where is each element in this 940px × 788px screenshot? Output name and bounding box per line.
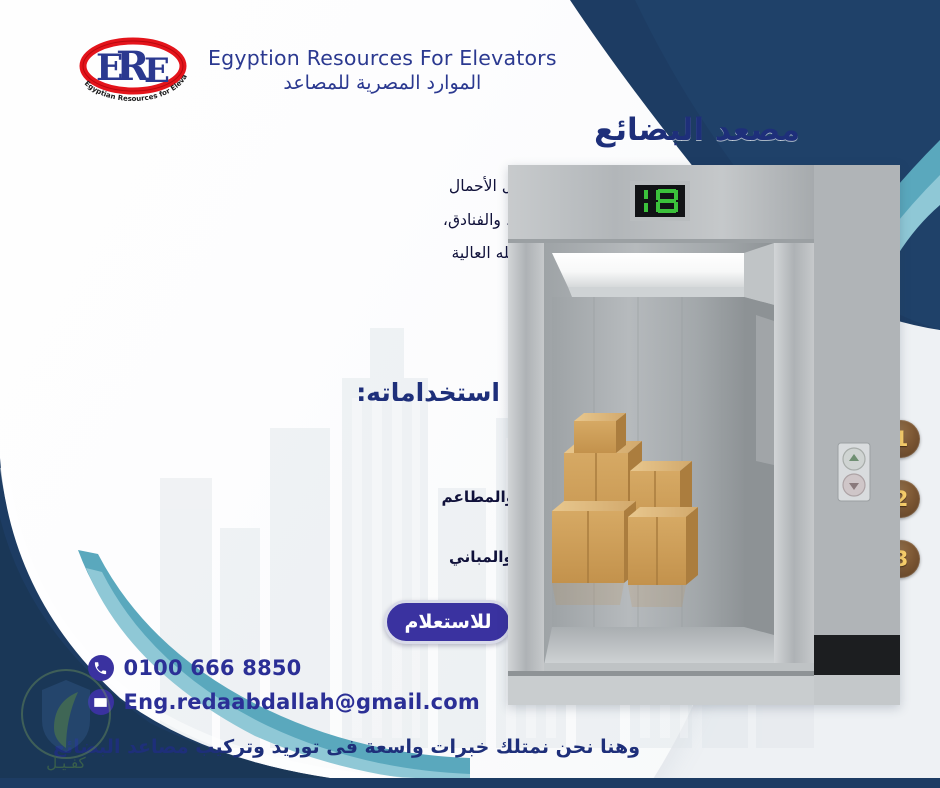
contact-email-row[interactable]: Eng.redaabdallah@gmail.com [88, 689, 480, 715]
footer-tagline: وهنا نحن نمتلك خبرات واسعة فى توريد وترك… [53, 736, 640, 758]
brand-name-ar: الموارد المصرية للمصاعد [208, 72, 557, 94]
poster-canvas: E R E Egyptian Resources for Elevators E… [0, 0, 940, 788]
leaf-shield-icon: كفـيـل [8, 662, 124, 778]
watermark-text: كفـيـل [46, 754, 86, 772]
inquiry-button[interactable]: للاستعلام [384, 600, 512, 644]
brand-header: E R E Egyptian Resources for Elevators E… [0, 34, 620, 106]
svg-text:E: E [144, 51, 170, 91]
elevator-photo [508, 165, 900, 705]
page-title: مصعد البضائع [594, 112, 800, 148]
phone-number: 0100 666 8850 [124, 656, 302, 680]
email-address: Eng.redaabdallah@gmail.com [124, 690, 480, 714]
uses-heading: استخداماته: [356, 378, 500, 407]
brand-name-en: Egyption Resources For Elevators [208, 46, 557, 70]
bottom-strip [0, 778, 940, 788]
contact-block: 0100 666 8850 Eng.redaabdallah@gmail.com [88, 655, 480, 715]
ere-oval-logo-icon: E R E Egyptian Resources for Elevators [72, 34, 194, 106]
